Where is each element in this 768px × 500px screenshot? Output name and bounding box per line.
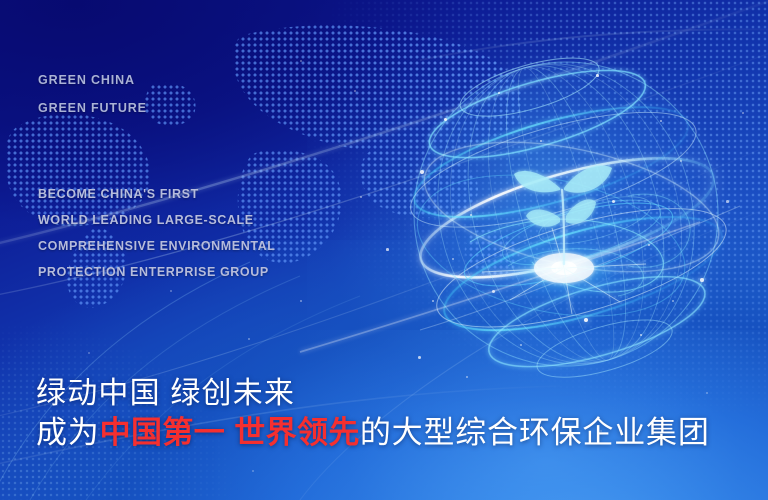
hero-banner: GREEN CHINA GREEN FUTURE BECOME CHINA'S … (0, 0, 768, 500)
headline-line-1: 绿动中国 绿创未来 (36, 375, 710, 413)
eyebrow-line-1: GREEN CHINA (38, 66, 147, 94)
eyebrow-line-2: GREEN FUTURE (38, 94, 147, 122)
headline-suffix: 的大型综合环保企业集团 (360, 415, 710, 450)
headline-highlight: 中国第一 世界领先 (100, 415, 360, 450)
headline-line-2: 成为中国第一 世界领先的大型综合环保企业集团 (36, 413, 710, 453)
tagline-line-2: WORLD LEADING LARGE-SCALE (38, 207, 276, 233)
tagline-line-3: COMPREHENSIVE ENVIRONMENTAL (38, 233, 276, 259)
text-layer: GREEN CHINA GREEN FUTURE BECOME CHINA'S … (0, 0, 768, 500)
tagline-block: BECOME CHINA'S FIRST WORLD LEADING LARGE… (38, 181, 276, 285)
headline-block: 绿动中国 绿创未来 成为中国第一 世界领先的大型综合环保企业集团 (36, 375, 710, 453)
headline-prefix: 成为 (36, 415, 100, 450)
eyebrow-block: GREEN CHINA GREEN FUTURE (38, 66, 147, 122)
tagline-line-4: PROTECTION ENTERPRISE GROUP (38, 259, 276, 285)
tagline-line-1: BECOME CHINA'S FIRST (38, 181, 276, 207)
